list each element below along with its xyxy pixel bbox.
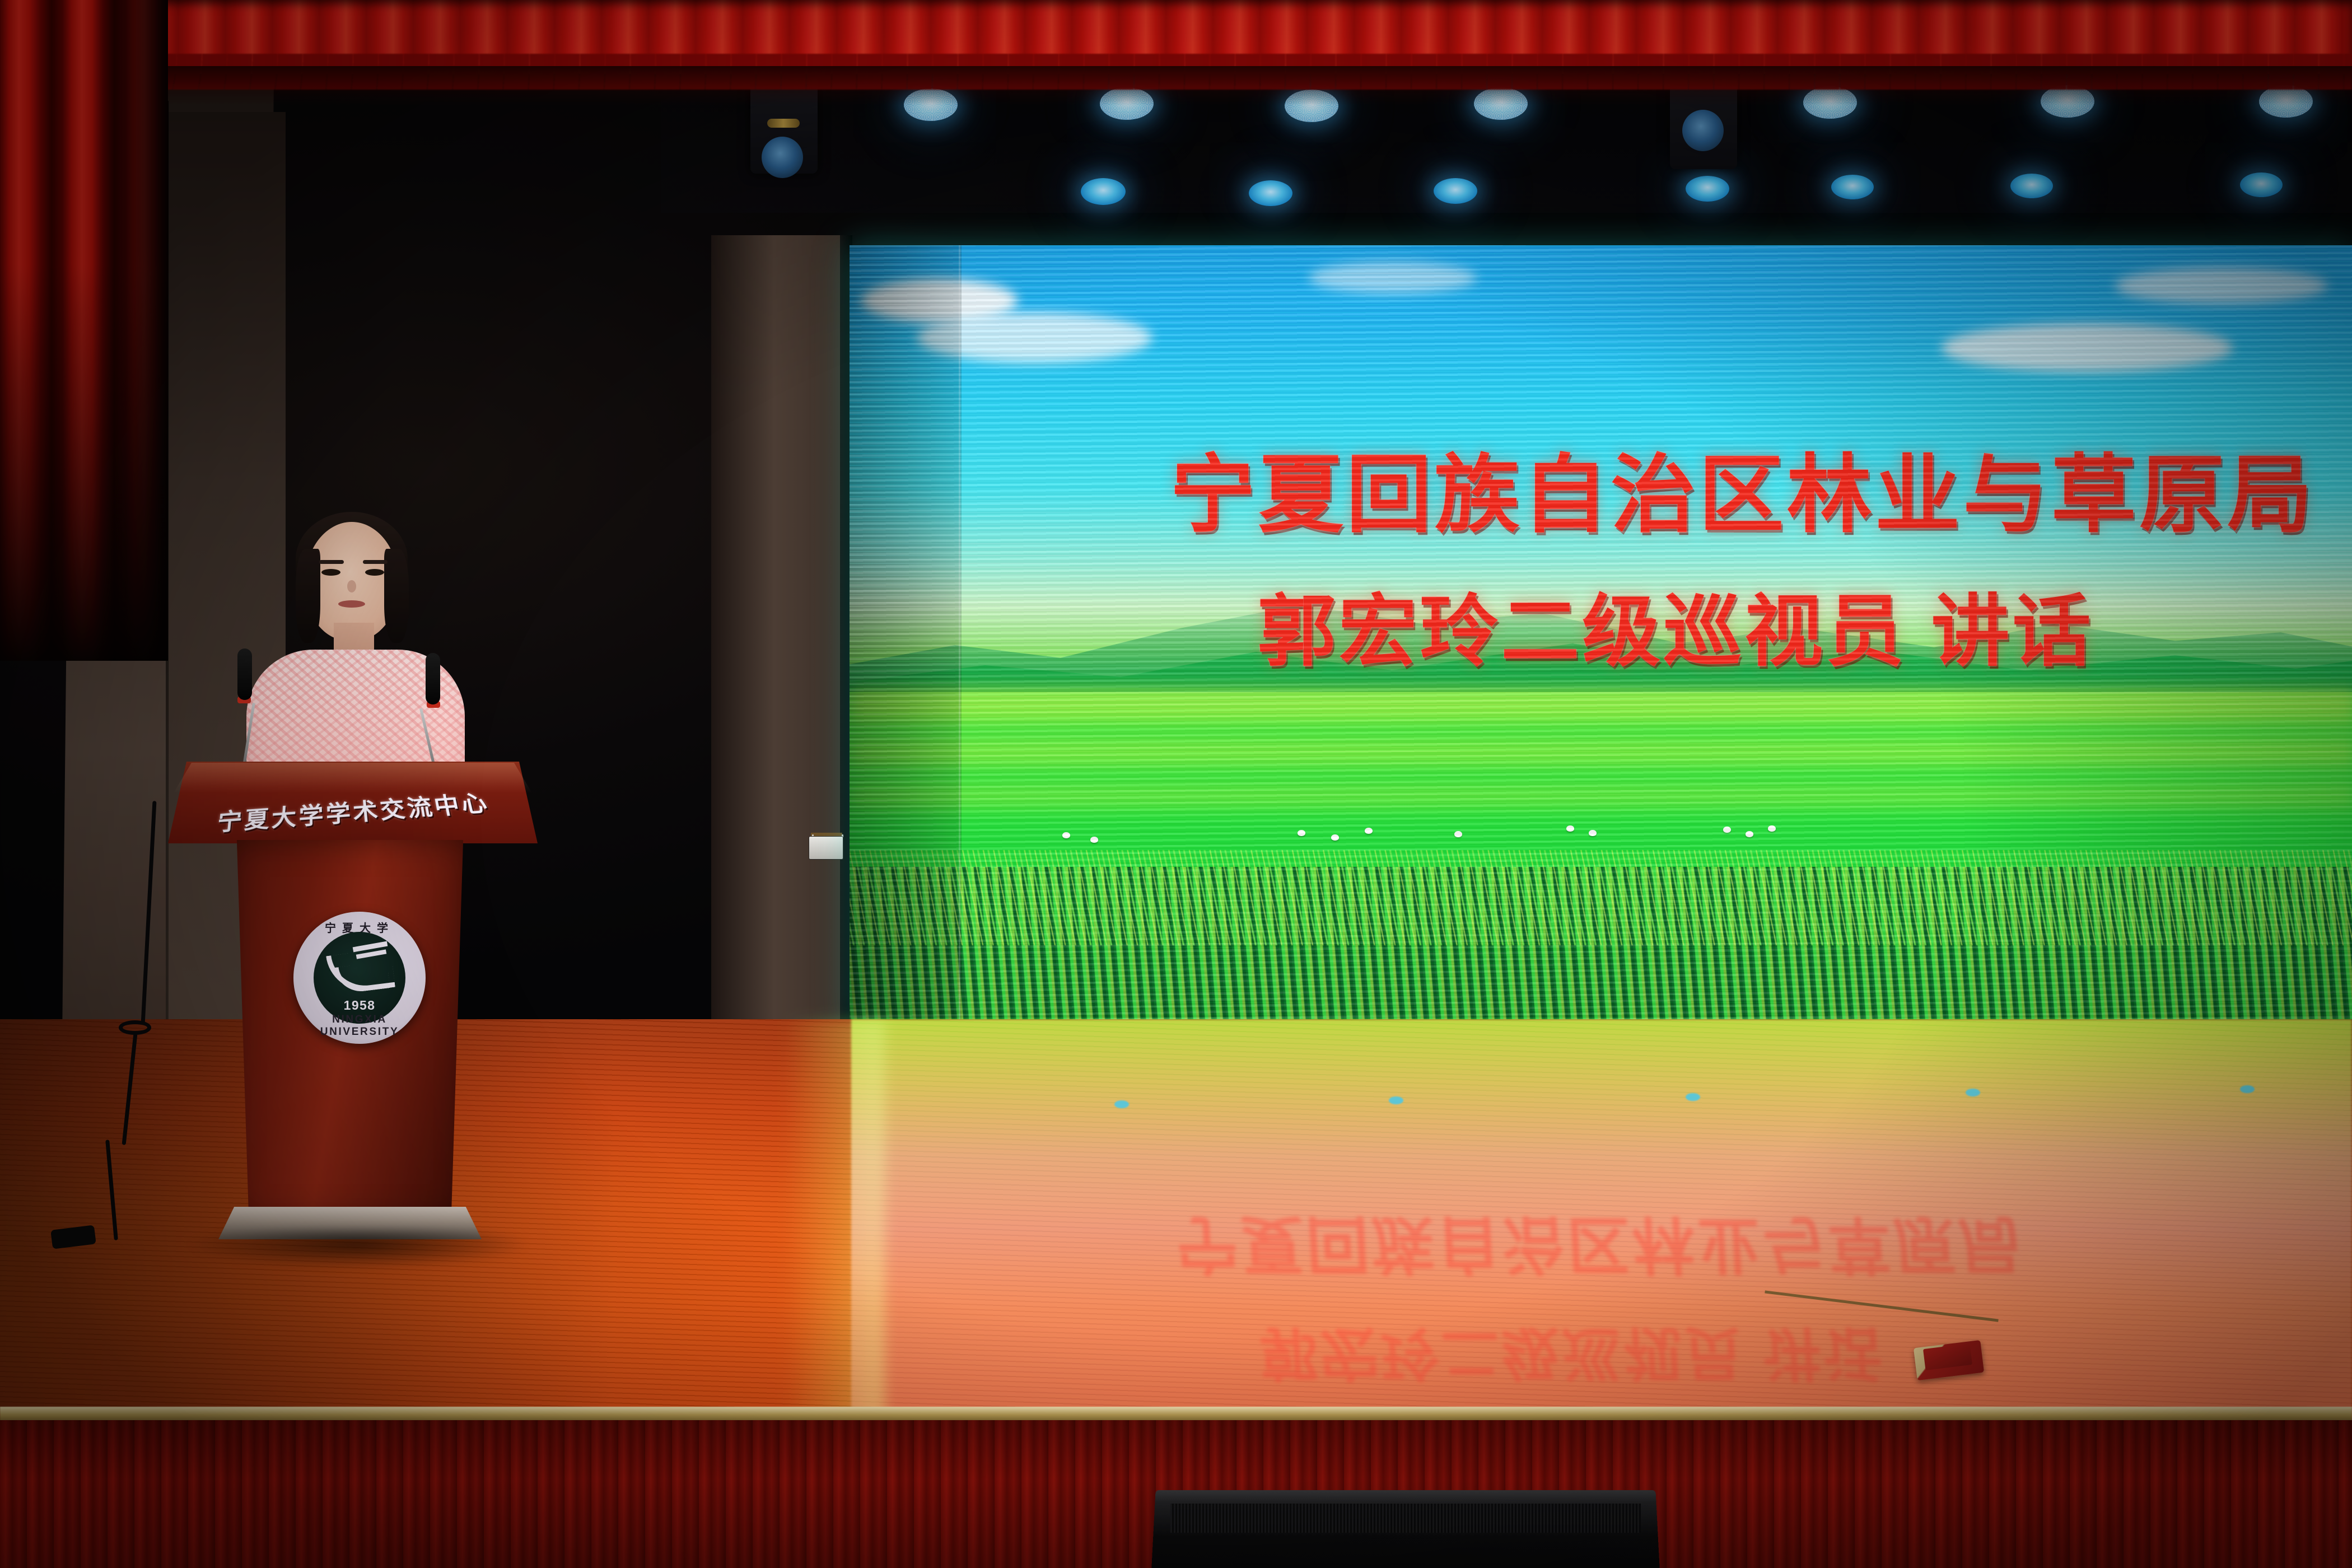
moving-head-lens-2 [1682,110,1724,151]
stage-edge-nosing [0,1407,2352,1421]
speaker-hair-right [384,549,409,643]
speaker-eye-right [365,569,384,576]
stage-light-icon-12 [1831,175,1874,199]
side-curtain-left-shading [0,0,168,661]
stage-presentation-photo: 宁夏回族自治区林业与草原局 郭宏玲二级巡视员 讲话 宁夏回族自治区林业与草原局 … [0,0,2352,1568]
moving-head-badge-1 [767,119,800,128]
stage-light-icon-8 [1081,178,1126,205]
led-display-screen: 宁夏回族自治区林业与草原局 郭宏玲二级巡视员 讲话 [850,245,2352,1029]
floor-inlay-dot-1 [1114,1100,1129,1108]
floor-inlay-dot-3 [1686,1093,1700,1101]
monitor-speaker-grille [1170,1504,1641,1533]
speaker-brow-right [363,560,388,564]
stage-light-icon-9 [1249,180,1292,206]
stage-light-icon-14 [2240,172,2283,197]
stage-floor-spill-edge [784,1019,885,1422]
speaker-mouth [338,600,365,608]
microphone-icon-left [237,648,252,700]
podium-ground-shadow [190,1229,526,1268]
stage-valance-shadow [0,66,2352,105]
screen-scanlines-fine [850,245,2352,1029]
stage-light-icon-10 [1434,178,1477,204]
speaker-eye-left [321,569,340,576]
speaker-hair-left [296,549,320,643]
wireless-access-point-icon [809,836,843,860]
floor-inlay-dot-5 [2240,1085,2255,1093]
microphone-icon-right [426,653,440,704]
podium-cable-loop [119,1020,151,1035]
stage-light-icon-13 [2010,174,2053,198]
stage-pillar [711,235,851,1036]
floor-inlay-dot-2 [1389,1096,1403,1104]
speaker-brow-left [319,560,344,564]
floor-reflected-line1: 宁夏回族自治区林业与草原局 [1174,1204,2027,1295]
emblem-year: 1958 [314,998,405,1013]
podium-sign: 宁夏大学学术交流中心 [168,780,538,841]
floor-inlay-dot-4 [1966,1089,1980,1096]
stage-light-icon-11 [1686,176,1729,202]
podium-sign-text: 宁夏大学学术交流中心 [216,785,492,838]
floor-reflected-line2: 郭宏玲二级巡视员 讲话 [1258,1316,1887,1401]
speaker-nose [347,580,356,592]
emblem-english-name: NINGXIA UNIVERSITY [293,1014,426,1038]
moving-head-lens-1 [762,137,803,178]
